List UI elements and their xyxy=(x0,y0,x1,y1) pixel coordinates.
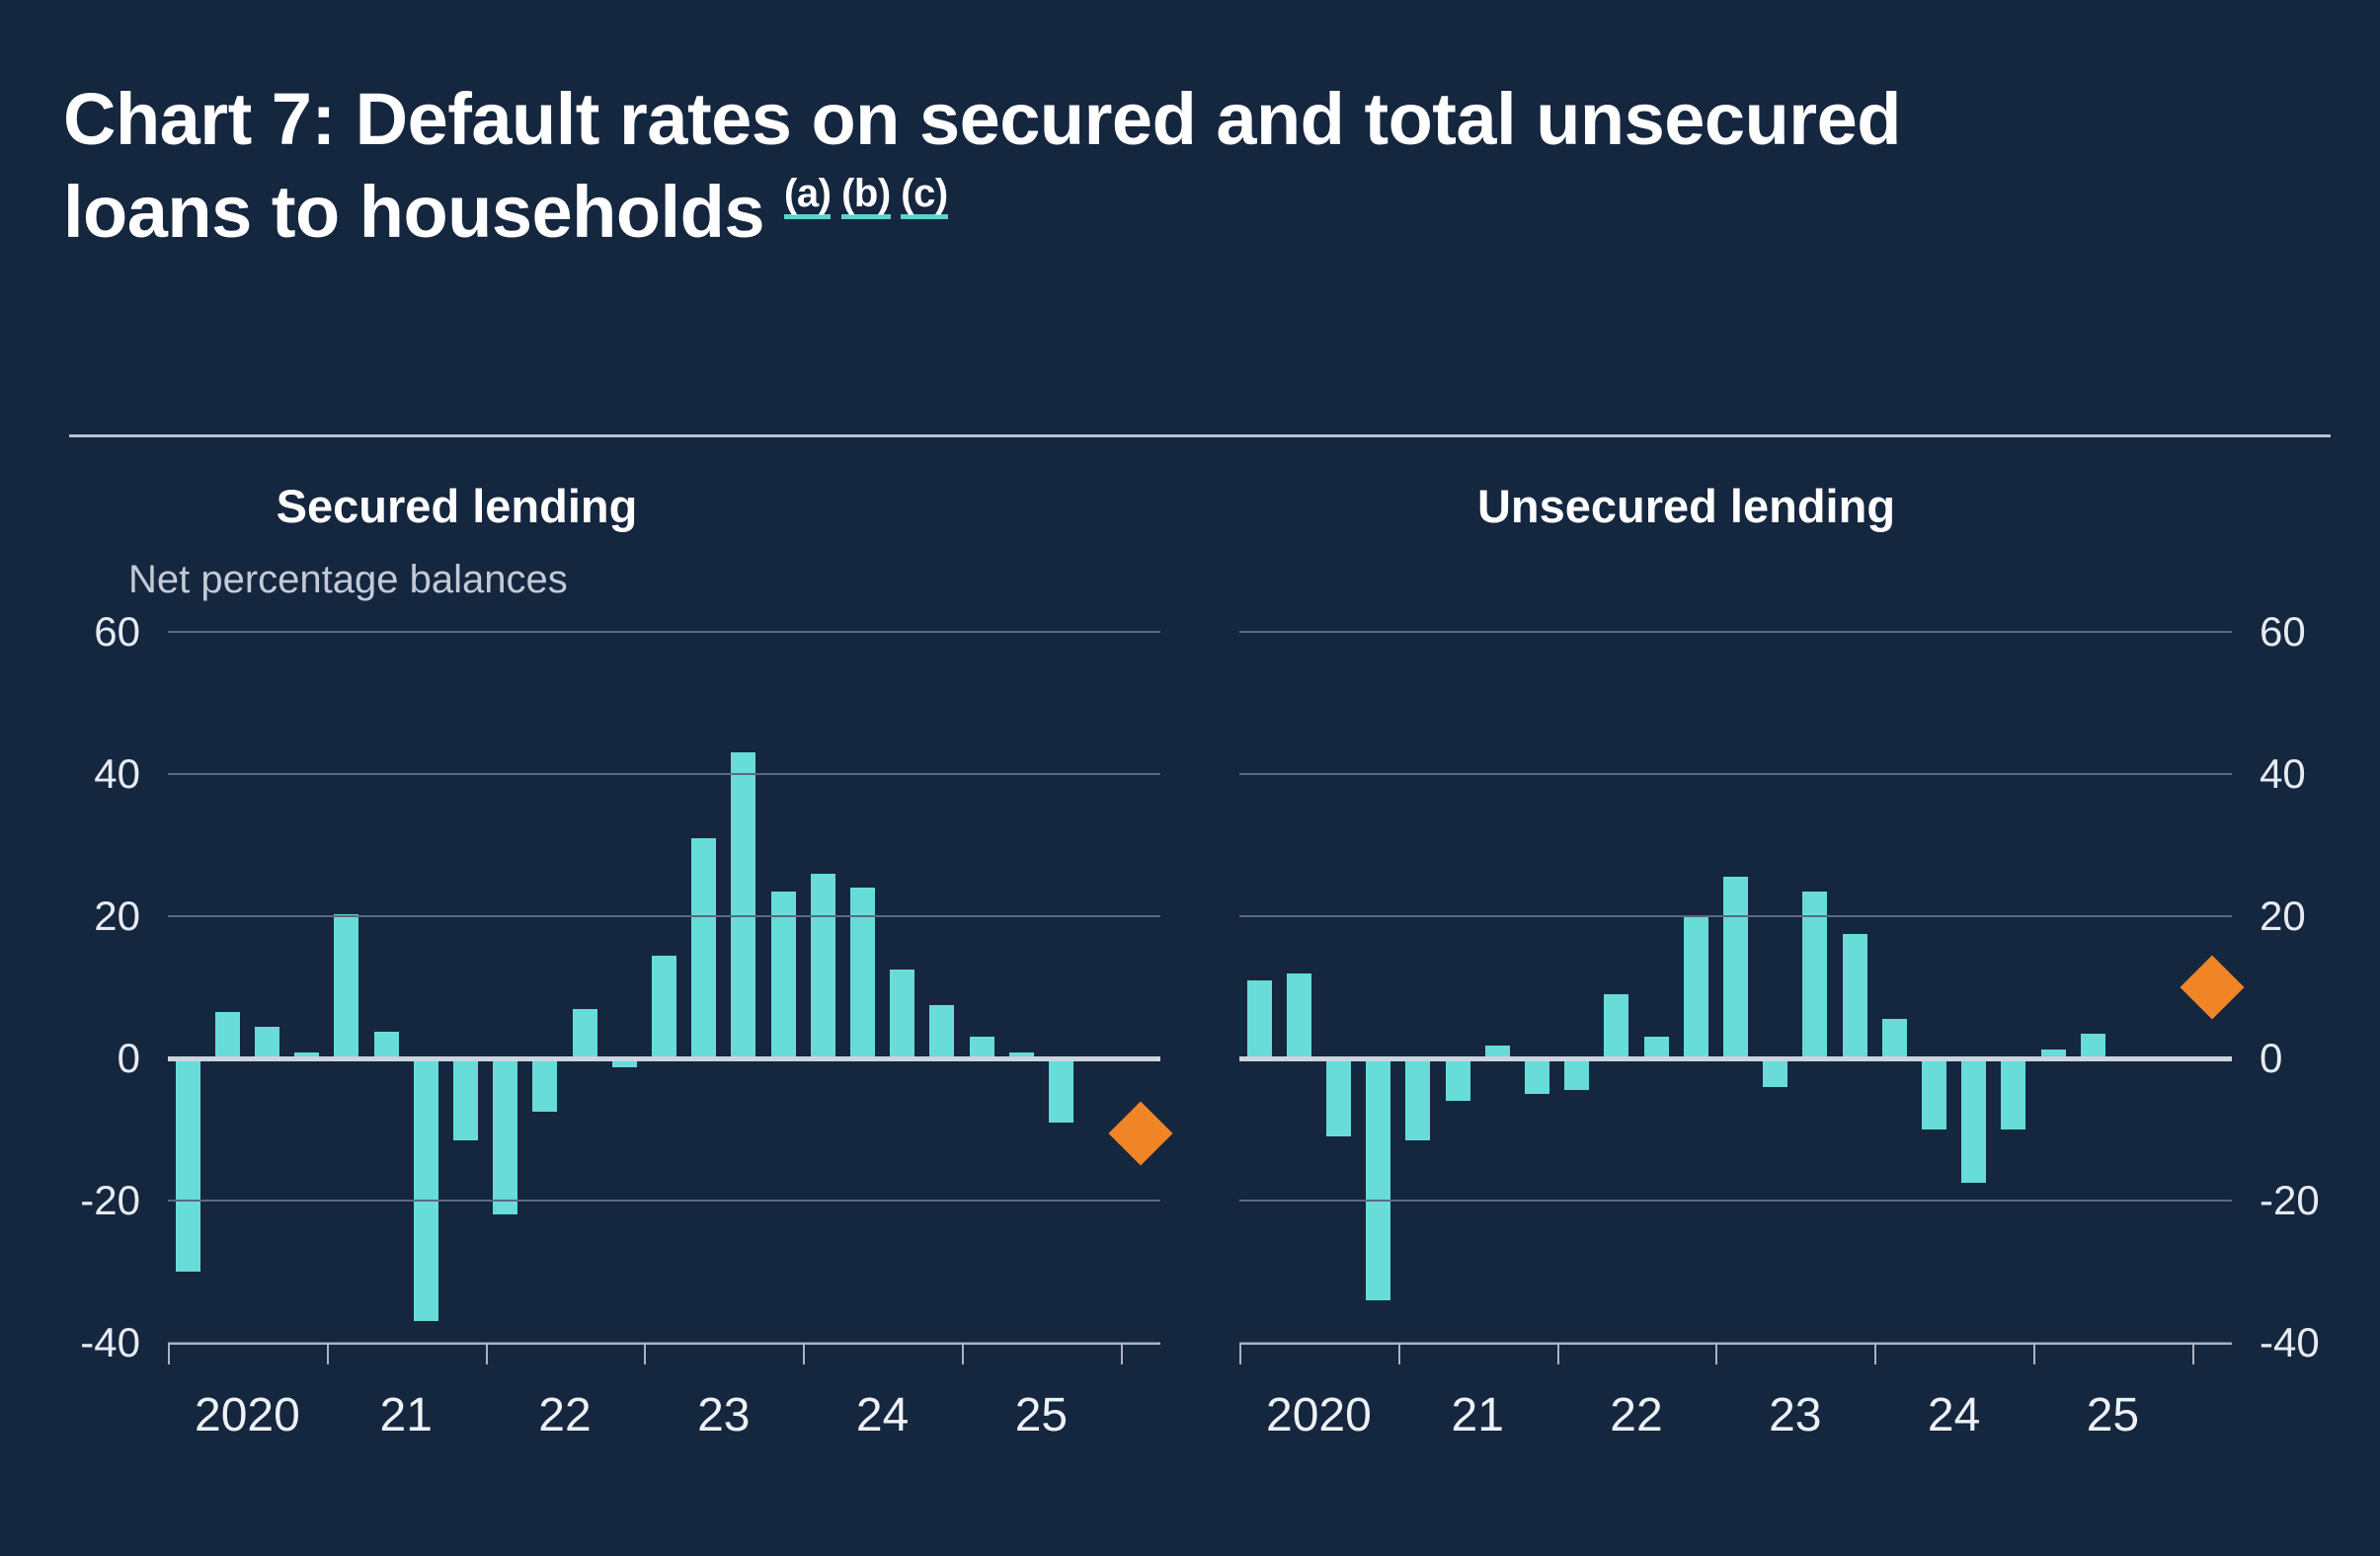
bar xyxy=(2001,1058,2025,1129)
y-axis-tick-label: -20 xyxy=(80,1177,140,1224)
bar xyxy=(334,914,358,1058)
bar xyxy=(731,752,755,1058)
bar xyxy=(1405,1058,1430,1140)
bar xyxy=(1922,1058,1946,1129)
x-axis-tick-label: 24 xyxy=(1928,1388,1980,1442)
panel-secured-lending: Secured lending Net percentage balances … xyxy=(69,434,1200,1550)
title-text: Chart 7: Default rates on secured and to… xyxy=(63,78,1901,254)
x-axis-tick xyxy=(1239,1343,1241,1364)
x-axis-tick xyxy=(962,1343,964,1364)
x-axis-tick-label: 24 xyxy=(856,1388,909,1442)
bar xyxy=(1644,1037,1669,1058)
bar xyxy=(215,1012,240,1058)
bar xyxy=(1446,1058,1470,1101)
footnote-link-b[interactable]: (b) xyxy=(841,175,891,219)
y-axis-tick-label: -40 xyxy=(2260,1319,2320,1366)
x-axis-tick-label: 2020 xyxy=(1266,1388,1372,1442)
chart-page: Chart 7: Default rates on secured and to… xyxy=(0,0,2380,1556)
x-axis-tick-label: 23 xyxy=(697,1388,750,1442)
y-axis-tick-label: 20 xyxy=(2260,893,2306,940)
gridline xyxy=(1239,631,2232,633)
expectation-marker-diamond xyxy=(2180,955,2244,1019)
y-axis-tick-label: -40 xyxy=(80,1319,140,1366)
bar xyxy=(929,1005,954,1058)
x-axis-tick-label: 23 xyxy=(1769,1388,1821,1442)
x-axis-tick xyxy=(1557,1343,1559,1364)
x-axis-tick-label: 25 xyxy=(2087,1388,2139,1442)
gridline xyxy=(1239,773,2232,775)
bar xyxy=(1882,1019,1907,1058)
bar xyxy=(1287,973,1311,1058)
plot-area-unsecured: 6040200-20-40 xyxy=(1239,632,2232,1343)
zero-axis-line xyxy=(1239,1056,2232,1061)
x-axis-tick xyxy=(168,1343,170,1364)
x-axis-tick-label: 21 xyxy=(379,1388,432,1442)
x-axis-unsecured: 20202122232425 xyxy=(1239,1343,2232,1345)
bar xyxy=(1525,1058,1549,1094)
bar xyxy=(970,1037,994,1058)
y-axis-tick-label: 0 xyxy=(2260,1035,2282,1082)
bar xyxy=(532,1058,557,1112)
bar xyxy=(573,1009,597,1058)
x-axis-tick xyxy=(1121,1343,1123,1364)
footnote-link-c[interactable]: (c) xyxy=(901,175,947,219)
x-axis-tick xyxy=(644,1343,646,1364)
bar xyxy=(176,1058,200,1272)
zero-axis-line xyxy=(168,1056,1160,1061)
x-axis-tick xyxy=(2192,1343,2194,1364)
x-axis-tick-label: 2020 xyxy=(195,1388,300,1442)
y-axis-tick-label: 60 xyxy=(94,608,140,656)
bar xyxy=(1843,934,1867,1058)
x-axis-tick-label: 25 xyxy=(1015,1388,1068,1442)
panel-title-unsecured: Unsecured lending xyxy=(1121,479,2252,533)
x-axis-tick xyxy=(2033,1343,2035,1364)
bar xyxy=(652,956,676,1058)
x-axis-tick-label: 21 xyxy=(1451,1388,1503,1442)
x-axis-tick xyxy=(486,1343,488,1364)
panel-unsecured-lending: Unsecured lending 6040200-20-40 20202122… xyxy=(1200,434,2331,1550)
gridline xyxy=(168,773,1160,775)
y-axis-tick-label: 40 xyxy=(2260,750,2306,798)
bar xyxy=(1961,1058,1986,1183)
gridline xyxy=(168,631,1160,633)
bar xyxy=(414,1058,438,1321)
bar xyxy=(255,1027,279,1058)
bar xyxy=(374,1032,399,1058)
x-axis-tick xyxy=(1874,1343,1876,1364)
x-axis-tick xyxy=(1398,1343,1400,1364)
gridline xyxy=(1239,915,2232,917)
bar xyxy=(1684,916,1708,1058)
x-axis-tick-label: 22 xyxy=(538,1388,591,1442)
y-axis-tick-label: 40 xyxy=(94,750,140,798)
bar xyxy=(811,874,835,1058)
footnote-link-a[interactable]: (a) xyxy=(784,175,831,219)
bar xyxy=(1326,1058,1351,1136)
panel-title-secured: Secured lending xyxy=(0,479,1022,533)
bar xyxy=(1564,1058,1589,1090)
y-axis-tick-label: 60 xyxy=(2260,608,2306,656)
bar xyxy=(850,888,875,1058)
expectation-marker-diamond xyxy=(1108,1101,1172,1165)
bar-series-secured xyxy=(168,632,1160,1343)
x-axis-secured: 20202122232425 xyxy=(168,1343,1160,1345)
gridline xyxy=(1239,1200,2232,1202)
bar xyxy=(1763,1058,1787,1087)
x-axis-tick xyxy=(803,1343,805,1364)
x-axis-tick xyxy=(1715,1343,1717,1364)
footnote-markers: (a) (b) (c) xyxy=(784,172,948,215)
bar xyxy=(1604,994,1628,1058)
bar xyxy=(1723,877,1748,1058)
gridline xyxy=(168,915,1160,917)
x-axis-tick xyxy=(327,1343,329,1364)
y-axis-tick-label: 20 xyxy=(94,893,140,940)
gridline xyxy=(168,1200,1160,1202)
bar xyxy=(890,970,914,1058)
bar-series-unsecured xyxy=(1239,632,2232,1343)
y-axis-tick-label: -20 xyxy=(2260,1177,2320,1224)
y-axis-caption: Net percentage balances xyxy=(128,558,568,602)
bar xyxy=(691,838,716,1058)
bar xyxy=(2081,1034,2105,1058)
x-axis-tick-label: 22 xyxy=(1610,1388,1662,1442)
bar xyxy=(1366,1058,1390,1300)
page-title: Chart 7: Default rates on secured and to… xyxy=(63,73,2098,260)
plot-area-secured: 6040200-20-40 xyxy=(168,632,1160,1343)
bar xyxy=(1049,1058,1073,1123)
bar xyxy=(493,1058,517,1214)
bar xyxy=(1247,980,1272,1058)
bar xyxy=(453,1058,478,1140)
y-axis-tick-label: 0 xyxy=(118,1035,140,1082)
